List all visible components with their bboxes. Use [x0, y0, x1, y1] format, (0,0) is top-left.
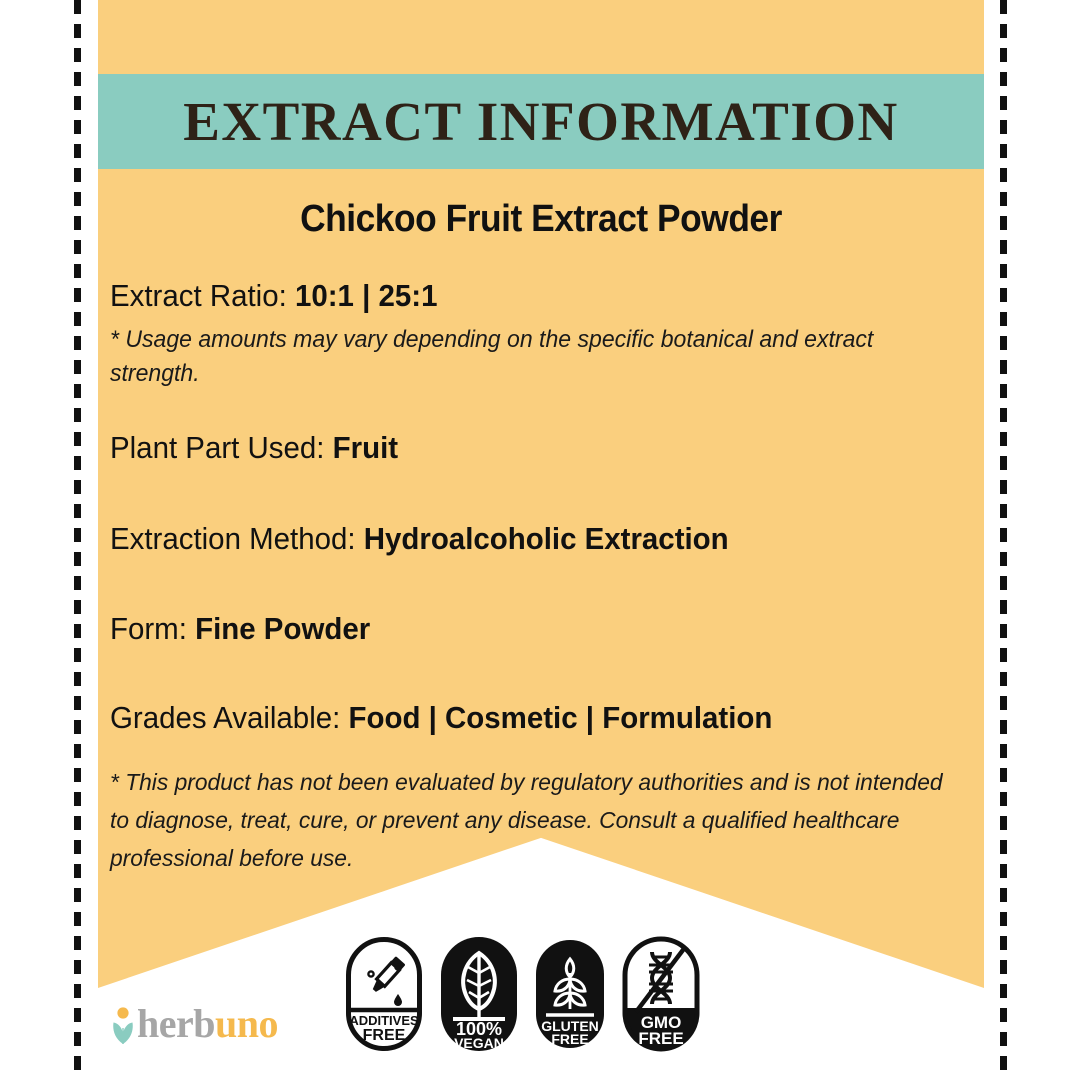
sprout-leaf-icon — [110, 1007, 136, 1045]
usage-note: * Usage amounts may vary depending on th… — [110, 323, 931, 393]
spec-row-plant-part: Plant Part Used: Fruit — [110, 430, 922, 467]
badge-line2-gluten: FREE — [551, 1031, 588, 1047]
brand-logo: herbuno — [110, 1000, 278, 1046]
spec-row-extract-ratio: Extract Ratio: 10:1 | 25:1 — [110, 278, 922, 315]
spec-value-form: Fine Powder — [195, 611, 370, 646]
certification-badges: ADDITIVES FREE 100% VEGAN — [345, 936, 700, 1057]
spec-label-grades: Grades Available: — [110, 700, 348, 735]
badge-100-vegan: 100% VEGAN — [440, 936, 518, 1057]
spec-row-grades: Grades Available: Food | Cosmetic | Form… — [110, 700, 922, 737]
page-title: EXTRACT INFORMATION — [183, 90, 899, 153]
spec-row-form: Form: Fine Powder — [110, 611, 922, 648]
product-title: Chickoo Fruit Extract Powder — [129, 198, 953, 241]
badge-line2-free: FREE — [363, 1027, 406, 1044]
spec-list: Extract Ratio: 10:1 | 25:1 * Usage amoun… — [110, 278, 965, 877]
header-band: EXTRACT INFORMATION — [98, 74, 984, 169]
regulatory-disclaimer: * This product has not been evaluated by… — [110, 764, 944, 877]
spec-label-form: Form: — [110, 611, 195, 646]
badge-line1-additives: ADDITIVES — [349, 1013, 419, 1028]
spec-value-extraction-method: Hydroalcoholic Extraction — [364, 521, 729, 556]
spec-row-extraction-method: Extraction Method: Hydroalcoholic Extrac… — [110, 521, 922, 558]
spec-value-grades: Food | Cosmetic | Formulation — [348, 700, 772, 735]
badge-line2-vegan: VEGAN — [454, 1035, 504, 1051]
spec-label-plant-part: Plant Part Used: — [110, 430, 333, 465]
badge-gmo-free: GMO FREE — [622, 936, 700, 1057]
dashed-border-left — [74, 0, 81, 1080]
logo-text-herb: herb — [137, 1000, 215, 1047]
spec-value-plant-part: Fruit — [333, 430, 398, 465]
logo-text-uno: uno — [215, 1000, 278, 1047]
spec-label-extraction-method: Extraction Method: — [110, 521, 364, 556]
badge-line2-gmo: FREE — [638, 1029, 683, 1048]
spec-value-extract-ratio: 10:1 | 25:1 — [295, 278, 438, 313]
badge-additives-free: ADDITIVES FREE — [345, 936, 423, 1057]
dashed-border-right — [1000, 0, 1007, 1080]
spec-label-extract-ratio: Extract Ratio: — [110, 278, 295, 313]
badge-gluten-free: GLUTEN FREE — [535, 939, 605, 1054]
